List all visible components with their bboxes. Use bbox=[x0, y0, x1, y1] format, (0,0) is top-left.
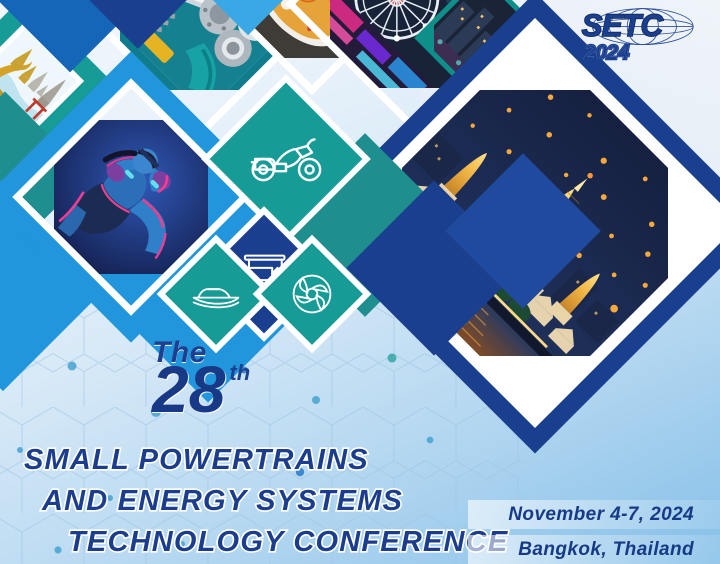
conference-title: SMALL POWERTRAINS AND ENERGY SYSTEMS TEC… bbox=[0, 440, 500, 564]
setc-logo: SETC 2024 2024 bbox=[578, 6, 698, 64]
title-line-3: TECHNOLOGY CONFERENCE bbox=[68, 522, 500, 563]
title-line-2: AND ENERGY SYSTEMS bbox=[42, 481, 500, 522]
event-dates-bar: November 4-7, 2024 bbox=[468, 500, 720, 529]
setc-wordmark: SETC bbox=[582, 8, 664, 43]
turbine-impeller-icon bbox=[289, 271, 335, 317]
headline-ordinal-suffix: th bbox=[229, 360, 250, 386]
conference-poster: SETC 2024 2024 The 28 th SMALL POWERTRAI… bbox=[0, 0, 720, 564]
svg-text:2024: 2024 bbox=[583, 42, 629, 64]
speedboat-icon bbox=[190, 279, 242, 309]
headline-ordinal-number: 28 bbox=[152, 358, 225, 421]
event-location-bar: Bangkok, Thailand bbox=[468, 535, 720, 564]
title-line-1: SMALL POWERTRAINS bbox=[24, 440, 500, 481]
motorcycle-icon bbox=[247, 134, 325, 184]
headline-ordinal: 28 th bbox=[152, 358, 250, 421]
